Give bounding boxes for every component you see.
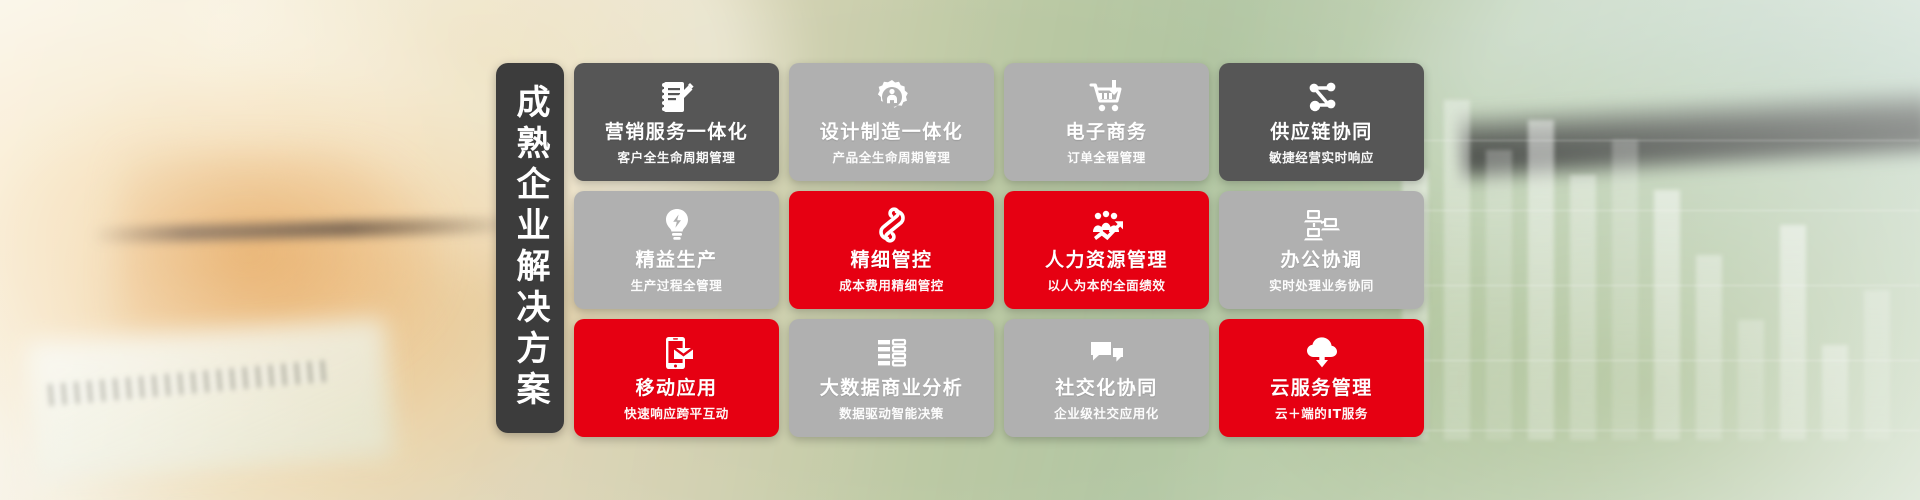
solution-card-title: 营销服务一体化 bbox=[605, 122, 749, 144]
cloud-download-icon bbox=[1302, 332, 1342, 374]
mobile-message-icon bbox=[657, 332, 697, 374]
solution-card-title: 大数据商业分析 bbox=[820, 378, 964, 400]
solution-card[interactable]: 营销服务一体化客户全生命周期管理 bbox=[574, 63, 779, 181]
solution-card-subtitle: 快速响应跨平互动 bbox=[624, 403, 729, 422]
solution-card[interactable]: 精益生产生产过程全管理 bbox=[574, 191, 779, 309]
solution-card[interactable]: 社交化协同企业级社交应用化 bbox=[1004, 319, 1209, 437]
solution-card-title: 办公协调 bbox=[1280, 250, 1362, 272]
solution-card-subtitle: 以人为本的全面绩效 bbox=[1048, 275, 1166, 294]
solution-card-subtitle: 数据驱动智能决策 bbox=[839, 403, 944, 422]
solution-card-subtitle: 企业级社交应用化 bbox=[1054, 403, 1159, 422]
solution-card-title: 设计制造一体化 bbox=[820, 122, 964, 144]
solution-card[interactable]: 精细管控成本费用精细管控 bbox=[789, 191, 994, 309]
solution-card-title: 云服务管理 bbox=[1270, 378, 1373, 400]
solution-card-title: 精细管控 bbox=[850, 250, 932, 272]
solution-card-subtitle: 生产过程全管理 bbox=[631, 275, 723, 294]
solution-card-title: 精益生产 bbox=[635, 250, 717, 272]
solution-card[interactable]: 大数据商业分析数据驱动智能决策 bbox=[789, 319, 994, 437]
solution-card-title: 人力资源管理 bbox=[1045, 250, 1168, 272]
people-growth-arrow-icon bbox=[1087, 204, 1127, 246]
solution-card-title: 电子商务 bbox=[1065, 122, 1147, 144]
solution-card[interactable]: 设计制造一体化产品全生命周期管理 bbox=[789, 63, 994, 181]
solution-card-subtitle: 订单全程管理 bbox=[1067, 147, 1146, 166]
solution-card[interactable]: 人力资源管理以人为本的全面绩效 bbox=[1004, 191, 1209, 309]
database-blocks-icon bbox=[872, 332, 912, 374]
solution-card-title: 社交化协同 bbox=[1055, 378, 1158, 400]
solution-card-subtitle: 成本费用精细管控 bbox=[839, 275, 944, 294]
network-nodes-icon bbox=[1302, 76, 1342, 118]
vertical-title-panel: 成熟企业解决方案 bbox=[496, 63, 564, 433]
solution-card[interactable]: 电子商务订单全程管理 bbox=[1004, 63, 1209, 181]
chain-link-icon bbox=[872, 204, 912, 246]
solution-card[interactable]: 办公协调实时处理业务协同 bbox=[1219, 191, 1424, 309]
solution-card-grid: 营销服务一体化客户全生命周期管理 设计制造一体化产品全生命周期管理 电子商务订单… bbox=[574, 63, 1424, 437]
networked-computers-icon bbox=[1302, 204, 1342, 246]
lightbulb-bolt-icon bbox=[657, 204, 697, 246]
notepad-pencil-icon bbox=[657, 76, 697, 118]
panel-wrapper: 成熟企业解决方案 营销服务一体化客户全生命周期管理 设计制造一体化产品全生命周期… bbox=[496, 63, 1424, 437]
solution-card[interactable]: 云服务管理云＋端的IT服务 bbox=[1219, 319, 1424, 437]
solution-card-title: 供应链协同 bbox=[1270, 122, 1373, 144]
page-title: 成熟企业解决方案 bbox=[513, 84, 547, 412]
solution-card-subtitle: 产品全生命周期管理 bbox=[833, 147, 951, 166]
solution-card[interactable]: 移动应用快速响应跨平互动 bbox=[574, 319, 779, 437]
solution-card[interactable]: 供应链协同敏捷经营实时响应 bbox=[1219, 63, 1424, 181]
solution-card-subtitle: 云＋端的IT服务 bbox=[1275, 403, 1368, 422]
solution-card-subtitle: 客户全生命周期管理 bbox=[618, 147, 736, 166]
solution-card-subtitle: 实时处理业务协同 bbox=[1269, 275, 1374, 294]
solution-card-subtitle: 敏捷经营实时响应 bbox=[1269, 147, 1374, 166]
solution-card-title: 移动应用 bbox=[635, 378, 717, 400]
shopping-cart-download-icon bbox=[1087, 76, 1127, 118]
speech-bubbles-icon bbox=[1087, 332, 1127, 374]
solution-banner: 成熟企业解决方案 营销服务一体化客户全生命周期管理 设计制造一体化产品全生命周期… bbox=[0, 0, 1920, 500]
banner-content: 成熟企业解决方案 营销服务一体化客户全生命周期管理 设计制造一体化产品全生命周期… bbox=[0, 0, 1920, 500]
gear-person-icon bbox=[872, 76, 912, 118]
